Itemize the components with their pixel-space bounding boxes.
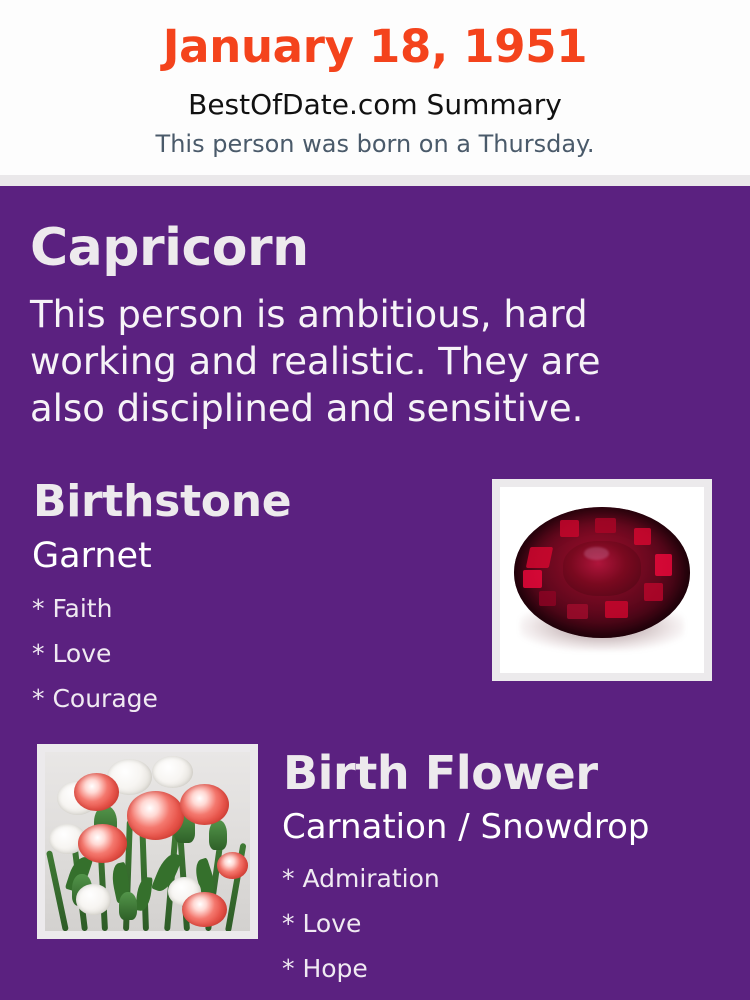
flower-stem — [46, 850, 69, 931]
birthday-summary-card: January 18, 1951 BestOfDate.com Summary … — [0, 0, 750, 1000]
gem-facet — [595, 518, 616, 534]
birthflower-name: Carnation / Snowdrop — [282, 806, 649, 848]
gem-highlight — [584, 547, 609, 560]
list-item: * Love — [282, 901, 722, 946]
gem-facet — [523, 570, 542, 588]
birthflower-heading: Birth Flower — [283, 746, 598, 800]
page-title-date: January 18, 1951 — [0, 21, 750, 73]
birthstone-heading: Birthstone — [33, 476, 291, 528]
list-item: * Love — [32, 631, 452, 676]
site-name-subtitle: BestOfDate.com Summary — [0, 88, 750, 122]
birthflower-image — [45, 752, 250, 931]
flower-bloom-pink — [127, 791, 184, 839]
birthflower-trait-list: * Admiration * Love * Hope — [282, 856, 722, 991]
flower-bloom-pink — [217, 852, 248, 879]
gem-facet — [560, 520, 579, 537]
birthflower-image-frame — [37, 744, 258, 939]
flower-bloom-white — [152, 756, 193, 788]
gem-facet — [539, 591, 557, 607]
gem-facet — [605, 601, 628, 618]
zodiac-description: This person is ambitious, hard working a… — [30, 291, 655, 432]
birthstone-image-frame — [492, 479, 712, 681]
gem-facet — [644, 583, 663, 601]
flower-bloom-pink — [74, 773, 119, 811]
details-panel: Capricorn This person is ambitious, hard… — [0, 186, 750, 1000]
list-item: * Admiration — [282, 856, 722, 901]
birthstone-trait-list: * Faith * Love * Courage — [32, 586, 452, 721]
garnet-gem-graphic — [500, 487, 704, 673]
zodiac-sign-heading: Capricorn — [30, 218, 309, 278]
flower-bloom-white — [76, 884, 111, 914]
list-item: * Hope — [282, 946, 722, 991]
gem-facet — [655, 554, 673, 576]
birthstone-image — [500, 487, 704, 673]
weekday-note: This person was born on a Thursday. — [0, 129, 750, 159]
gem-body — [514, 507, 689, 637]
flower-leaf — [136, 877, 154, 912]
flower-bud — [119, 892, 137, 921]
list-item: * Faith — [32, 586, 452, 631]
flower-bud — [209, 820, 227, 850]
flower-bloom-pink — [78, 824, 127, 863]
list-item: * Courage — [32, 676, 452, 721]
gem-facet — [634, 528, 652, 545]
flower-bloom-pink — [182, 892, 227, 928]
gem-facet — [567, 604, 588, 620]
carnation-bouquet-graphic — [45, 752, 250, 931]
flower-bloom-pink — [180, 784, 229, 825]
card-header: January 18, 1951 BestOfDate.com Summary … — [0, 0, 750, 175]
header-divider — [0, 175, 750, 186]
birthstone-name: Garnet — [32, 534, 152, 578]
gem-facet — [526, 547, 553, 568]
